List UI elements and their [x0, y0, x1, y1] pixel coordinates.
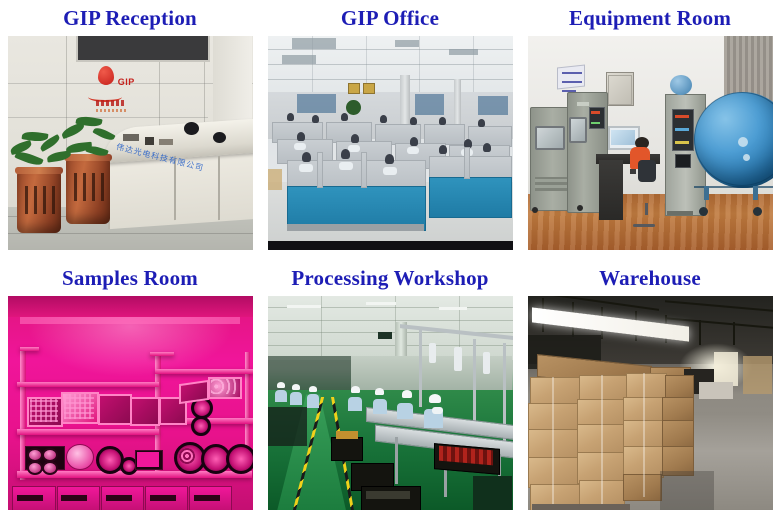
scene-samples [8, 296, 253, 510]
gallery-cell-warehouse: Warehouse [520, 260, 780, 520]
caption-gip-office: GIP Office [341, 0, 439, 36]
scene-workshop [268, 296, 513, 510]
caption-gip-reception: GIP Reception [63, 0, 197, 36]
caption-samples-room: Samples Room [62, 260, 198, 296]
gallery-cell-samples-room: Samples Room [0, 260, 260, 520]
scene-warehouse [528, 296, 773, 510]
scene-equipment [528, 36, 773, 250]
photo-samples-room [8, 296, 253, 510]
gip-logo-text: GIP [118, 77, 135, 87]
photo-equipment-room [528, 36, 773, 250]
photo-processing-workshop [268, 296, 513, 510]
scene-reception: GIP 伟达光电科技有限公司 [8, 36, 253, 250]
gallery-cell-gip-reception: GIP Reception GIP [0, 0, 260, 260]
scene-office [268, 36, 513, 250]
gallery-cell-gip-office: GIP Office [260, 0, 520, 260]
photo-gip-reception: GIP 伟达光电科技有限公司 [8, 36, 253, 250]
caption-processing-workshop: Processing Workshop [291, 260, 488, 296]
gallery-cell-processing-workshop: Processing Workshop [260, 260, 520, 520]
gallery-page: GIP Reception GIP [0, 0, 780, 520]
photo-gip-office [268, 36, 513, 250]
caption-equipment-room: Equipment Room [569, 0, 731, 36]
gallery-grid: GIP Reception GIP [0, 0, 780, 520]
gallery-cell-equipment-room: Equipment Room [520, 0, 780, 260]
caption-warehouse: Warehouse [599, 260, 701, 296]
photo-warehouse [528, 296, 773, 510]
